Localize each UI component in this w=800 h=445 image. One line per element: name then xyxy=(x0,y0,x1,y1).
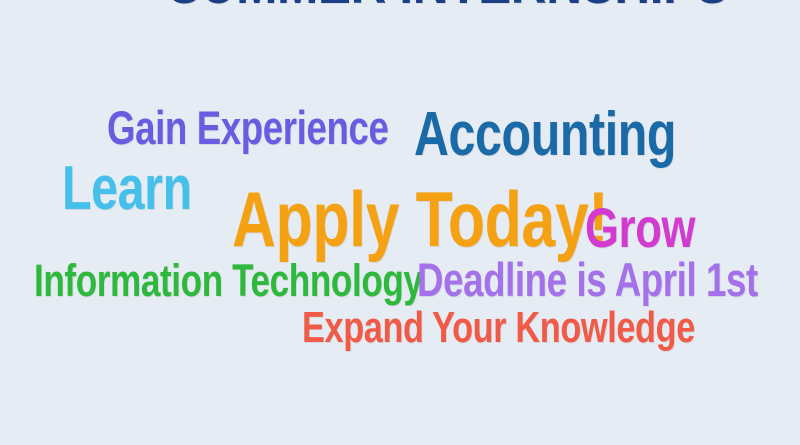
word-accounting-text: Accounting xyxy=(414,104,676,166)
word-apply-today-text: Apply Today! xyxy=(232,180,608,258)
word-gain-experience-text: Gain Experience xyxy=(107,104,388,151)
word-learn-text: Learn xyxy=(62,158,192,220)
word-accounting: Accounting xyxy=(414,104,750,166)
word-grow: Grow xyxy=(585,200,726,256)
word-deadline-is-april-1st: Deadline is April 1st xyxy=(417,256,800,303)
word-summer-internships-text: SUMMER INTERNSHIPS xyxy=(168,0,728,14)
word-deadline-is-april-1st-text: Deadline is April 1st xyxy=(417,256,758,303)
word-expand-your-knowledge: Expand Your Knowledge xyxy=(302,306,800,350)
word-cloud-canvas: SUMMER INTERNSHIPS Gain Experience Accou… xyxy=(0,0,800,445)
word-learn: Learn xyxy=(62,158,228,220)
word-grow-text: Grow xyxy=(585,200,695,256)
word-expand-your-knowledge-text: Expand Your Knowledge xyxy=(302,306,695,350)
word-summer-internships: SUMMER INTERNSHIPS xyxy=(168,0,800,14)
word-information-technology-text: Information Technology xyxy=(34,258,423,303)
